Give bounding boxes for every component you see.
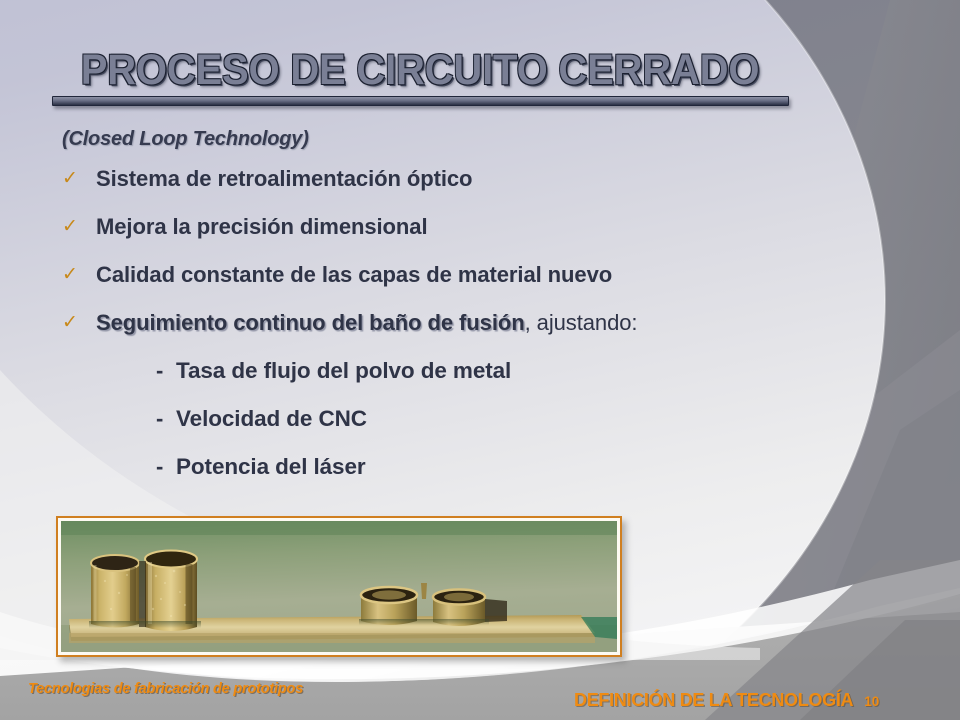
sub-bullet-label: Tasa de flujo del polvo de metal (176, 357, 511, 385)
bullet-item: ✓ Sistema de retroalimentación óptico (58, 165, 858, 195)
dash-bullet-icon: - (156, 357, 176, 385)
title-block: PROCESO DE CIRCUITO CERRADO (0, 48, 840, 106)
bullet-bold-part: Seguimiento continuo del baño de fusión (96, 310, 525, 335)
bullet-regular-part: , ajustando: (525, 310, 638, 335)
sub-bullet-item: - Potencia del láser (58, 453, 858, 481)
sub-bullet-label: Potencia del láser (176, 453, 366, 481)
sub-bullet-list: - Tasa de flujo del polvo de metal - Vel… (58, 357, 858, 481)
photo-inner (61, 521, 617, 652)
slide-title: PROCESO DE CIRCUITO CERRADO (29, 48, 810, 93)
title-underline-rule (52, 96, 789, 106)
bullet-item: ✓ Mejora la precisión dimensional (58, 213, 858, 243)
presentation-slide: PROCESO DE CIRCUITO CERRADO (Closed Loop… (0, 0, 960, 720)
bullet-label: Sistema de retroalimentación óptico (96, 165, 472, 193)
slide-subtitle: (Closed Loop Technology) (62, 128, 309, 151)
bullet-item: ✓ Calidad constante de las capas de mate… (58, 261, 858, 291)
checkmark-icon: ✓ (58, 213, 96, 241)
bullet-label: Mejora la precisión dimensional (96, 213, 427, 241)
dash-bullet-icon: - (156, 405, 176, 433)
sub-bullet-item: - Velocidad de CNC (58, 405, 858, 433)
checkmark-icon: ✓ (58, 165, 96, 193)
bullet-label-emphasis: Seguimiento continuo del baño de fusión,… (96, 309, 637, 337)
footer-right-group: DEFINICIÓN DE LA TECNOLOGÍA 10 (574, 690, 879, 711)
footer-section-label: DEFINICIÓN DE LA TECNOLOGÍA (574, 690, 853, 711)
bullet-label: Calidad constante de las capas de materi… (96, 261, 612, 289)
dash-bullet-icon: - (156, 453, 176, 481)
sub-bullet-label: Velocidad de CNC (176, 405, 367, 433)
photo-laser-deposited-parts (61, 521, 617, 652)
checkmark-icon: ✓ (58, 261, 96, 289)
bullet-item-highlight: ✓ Seguimiento continuo del baño de fusió… (58, 309, 858, 339)
sub-bullet-item: - Tasa de flujo del polvo de metal (58, 357, 858, 385)
checkmark-icon: ✓ (58, 309, 96, 337)
bullet-list: ✓ Sistema de retroalimentación óptico ✓ … (58, 165, 858, 501)
photo-frame (56, 516, 622, 657)
footer-left-label: Tecnologias de fabricación de prototipos (28, 681, 303, 697)
slide-page-number: 10 (864, 694, 879, 709)
